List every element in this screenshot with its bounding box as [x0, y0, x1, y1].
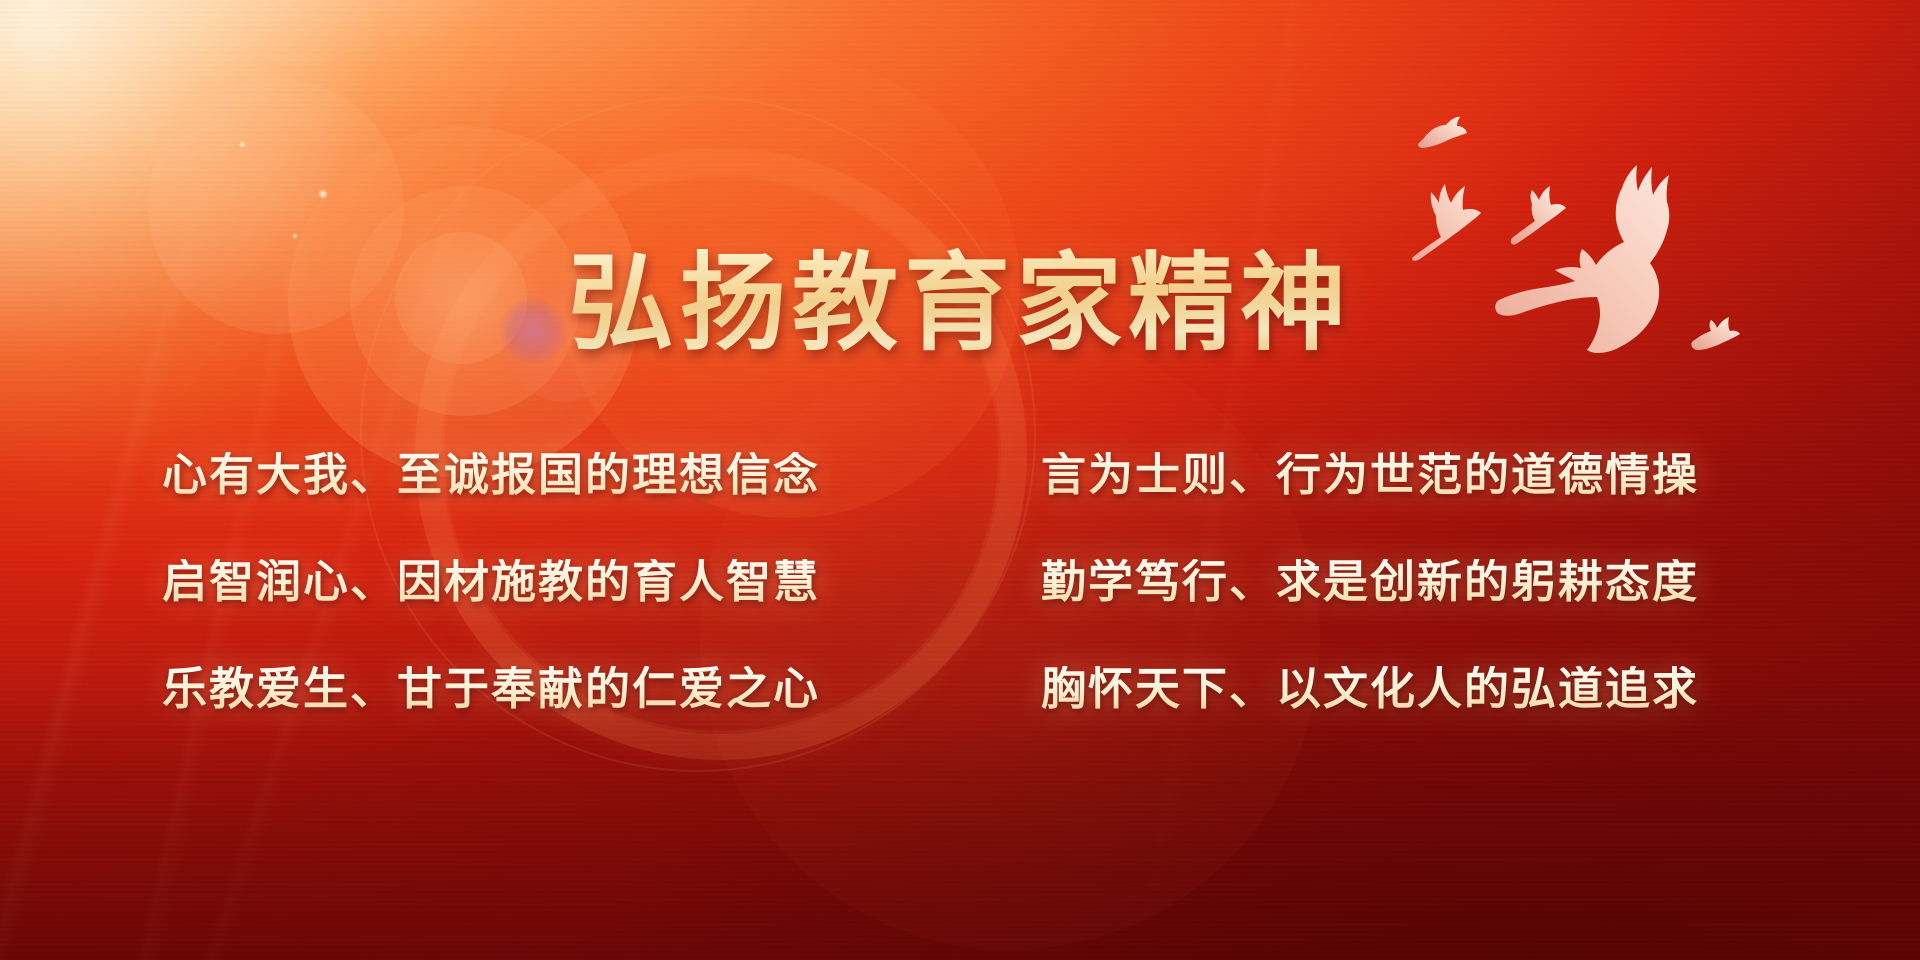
title-container: 弘扬教育家精神: [0, 246, 1920, 360]
slogan-line-2-right: 勤学笃行、求是创新的躬耕态度: [1023, 559, 1699, 604]
lens-flare-sparkle-3: [292, 233, 298, 239]
slogan-line-3-left: 乐教爱生、甘于奉献的仁爱之心: [150, 666, 820, 711]
slogan-line-3-right: 胸怀天下、以文化人的弘道追求: [1023, 666, 1699, 711]
dove-icon-center: [1511, 186, 1566, 245]
lens-flare-sparkle-1: [239, 141, 246, 148]
slogan-line-2-left: 启智润心、因材施教的育人智慧: [150, 559, 820, 604]
lens-flare-sparkle-2: [318, 189, 328, 199]
page-title: 弘扬教育家精神: [562, 246, 1358, 360]
slogan-line-1-left: 心有大我、至诚报国的理想信念: [150, 452, 820, 497]
slogan-line-1-right: 言为士则、行为世范的道德情操: [1023, 452, 1699, 497]
dove-icon-small-top: [1418, 117, 1467, 148]
poster-canvas: 弘扬教育家精神 心有大我、至诚报国的理想信念 言为士则、行为世范的道德情操 启智…: [0, 0, 1920, 960]
slogan-grid: 心有大我、至诚报国的理想信念 言为士则、行为世范的道德情操 启智润心、因材施教的…: [150, 452, 1790, 711]
